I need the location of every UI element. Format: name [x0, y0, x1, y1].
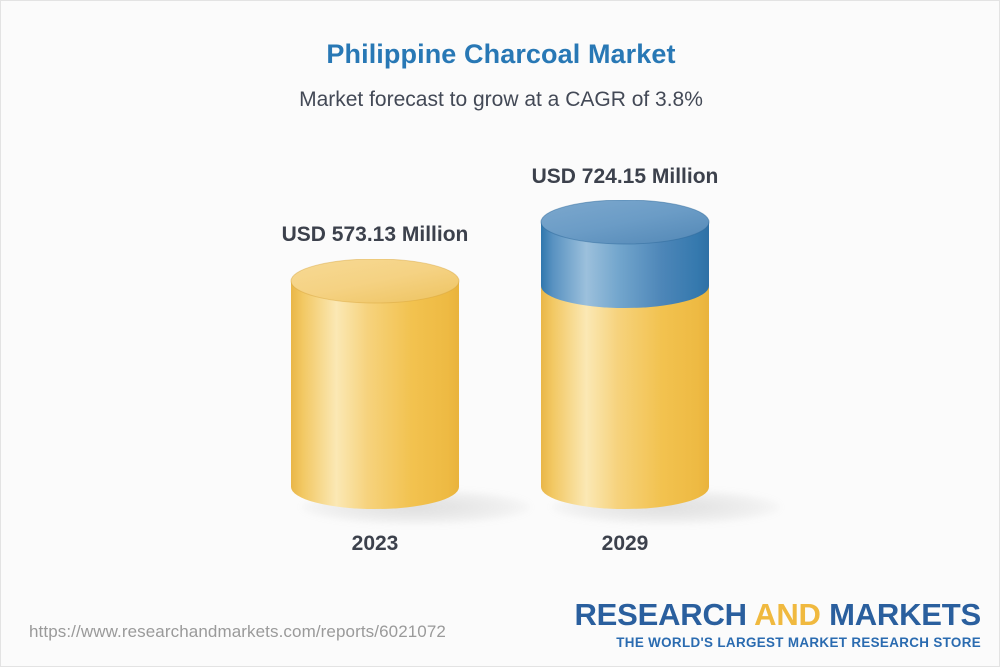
- logo-tagline: THE WORLD'S LARGEST MARKET RESEARCH STOR…: [575, 636, 982, 649]
- chart-canvas: Philippine Charcoal Market Market foreca…: [0, 0, 1000, 667]
- logo-word-markets: MARKETS: [829, 597, 981, 632]
- bar-2029[interactable]: [537, 200, 713, 513]
- value-label-2029: USD 724.15 Million: [475, 165, 775, 189]
- category-label-2029: 2029: [475, 532, 775, 556]
- bar-body-base-2029: [541, 286, 709, 509]
- report-url[interactable]: https://www.researchandmarkets.com/repor…: [29, 622, 446, 642]
- research-and-markets-logo[interactable]: RESEARCH AND MARKETS THE WORLD'S LARGEST…: [575, 599, 982, 649]
- value-label-2023: USD 573.13 Million: [225, 223, 525, 247]
- logo-word-and: AND: [754, 597, 821, 632]
- bar-2023[interactable]: [287, 259, 463, 513]
- plot-area: USD 573.13 Million: [1, 1, 1000, 601]
- bar-body-2023: [291, 281, 459, 509]
- logo-wordmark: RESEARCH AND MARKETS: [575, 599, 982, 630]
- logo-word-research: RESEARCH: [575, 597, 747, 632]
